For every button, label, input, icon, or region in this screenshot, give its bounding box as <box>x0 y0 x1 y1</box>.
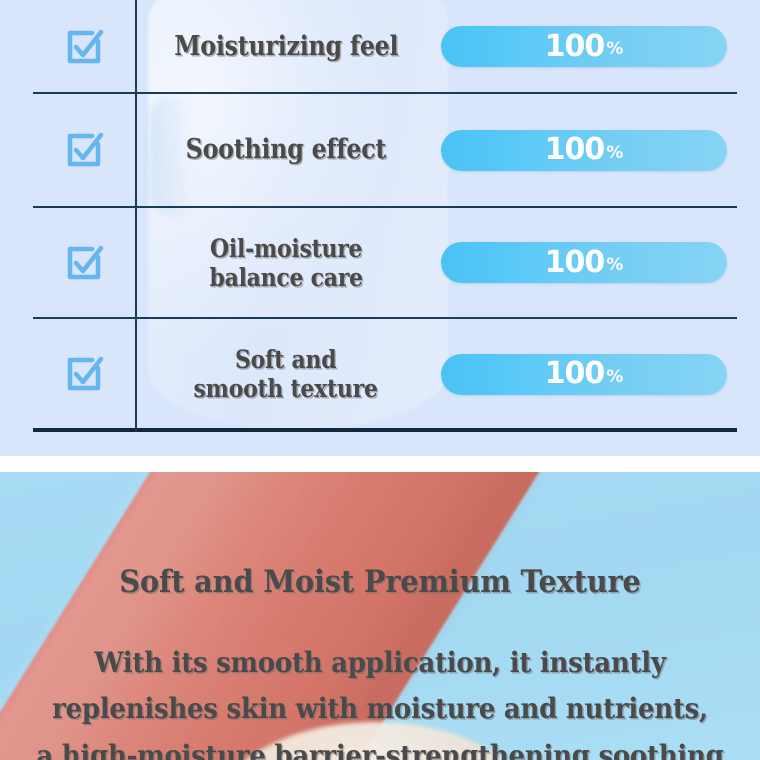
progress-cell: 100 % <box>431 242 737 283</box>
checkbox-cell <box>33 128 135 172</box>
feature-label: Oil-moisture balance care <box>209 234 362 292</box>
checkbox-checked-icon <box>62 352 106 396</box>
progress-bar: 100 % <box>441 354 727 395</box>
hero-text-block: Soft and Moist Premium Texture With its … <box>0 472 760 760</box>
progress-value: 100 <box>545 32 605 62</box>
checkbox-checked-icon <box>62 128 106 172</box>
section-separator <box>0 456 760 472</box>
checkbox-cell <box>33 241 135 285</box>
feature-label: Moisturizing feel <box>174 31 398 62</box>
hero-description: With its smooth application, it instantl… <box>27 600 734 760</box>
checkbox-cell <box>33 352 135 396</box>
feature-table-panel: Moisturizing feel 100 % Soothing effect <box>0 0 760 456</box>
checkbox-checked-icon <box>62 241 106 285</box>
feature-label: Soothing effect <box>186 134 386 165</box>
progress-bar: 100 % <box>441 242 727 283</box>
progress-bar: 100 % <box>441 130 727 171</box>
table-row: Soothing effect 100 % <box>33 93 737 207</box>
progress-bar: 100 % <box>441 26 727 67</box>
progress-value: 100 <box>545 135 605 165</box>
feature-label-cell: Soft and smooth texture <box>135 345 431 403</box>
progress-value: 100 <box>545 248 605 278</box>
table-row: Oil-moisture balance care 100 % <box>33 207 737 318</box>
feature-label-cell: Soothing effect <box>135 134 431 165</box>
feature-label: Soft and smooth texture <box>194 345 378 403</box>
progress-unit: % <box>606 257 623 274</box>
hero-title: Soft and Moist Premium Texture <box>27 472 734 600</box>
progress-unit: % <box>606 369 623 386</box>
feature-label-cell: Moisturizing feel <box>135 31 431 62</box>
progress-unit: % <box>606 41 623 58</box>
progress-cell: 100 % <box>431 354 737 395</box>
checkbox-cell <box>33 25 135 69</box>
feature-label-cell: Oil-moisture balance care <box>135 234 431 292</box>
progress-unit: % <box>606 145 623 162</box>
hero-section: Soft and Moist Premium Texture With its … <box>0 472 760 760</box>
table-row: Soft and smooth texture 100 % <box>33 318 737 430</box>
progress-value: 100 <box>545 359 605 389</box>
checkbox-checked-icon <box>62 25 106 69</box>
progress-cell: 100 % <box>431 130 737 171</box>
feature-table: Moisturizing feel 100 % Soothing effect <box>33 0 737 433</box>
table-row: Moisturizing feel 100 % <box>33 0 737 93</box>
progress-cell: 100 % <box>431 26 737 67</box>
